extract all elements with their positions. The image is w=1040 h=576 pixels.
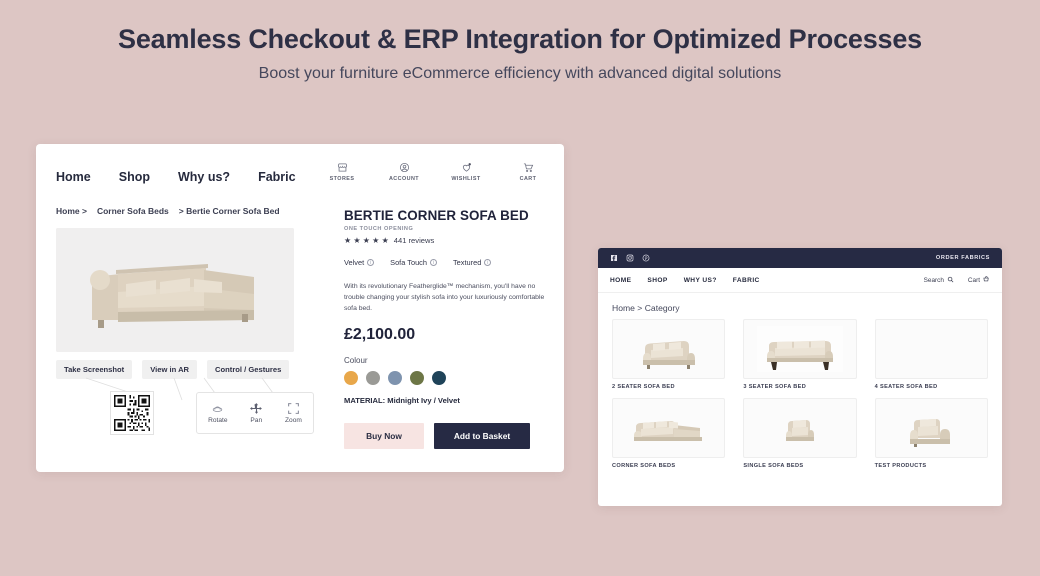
zoom-icon xyxy=(285,402,302,415)
pinterest-icon[interactable] xyxy=(642,249,650,267)
pdp-main-nav: Home Shop Why us? Fabric xyxy=(56,170,296,184)
feature-sofa-touch[interactable]: Sofa Touch i xyxy=(390,258,437,267)
category-tile-corner-sofa[interactable]: CORNER SOFA BEDS xyxy=(612,398,725,469)
search-button[interactable]: Search xyxy=(924,276,954,285)
ar-qr-code[interactable] xyxy=(110,391,154,435)
three-seater-sofa-image xyxy=(743,319,856,379)
category-tile-label: 4 SEATER SOFA BED xyxy=(875,384,988,390)
search-icon xyxy=(947,276,954,285)
category-tile-label: CORNER SOFA BEDS xyxy=(612,463,725,469)
breadcrumb-home[interactable]: Home > xyxy=(56,206,87,216)
star-rating-icon: ★ ★ ★ ★ ★ xyxy=(344,237,389,245)
rotate-icon xyxy=(208,402,227,415)
category-tile-2-seater[interactable]: 2 SEATER SOFA BED xyxy=(612,319,725,390)
category-tile-label: TEST PRODUCTS xyxy=(875,463,988,469)
category-page-card: ORDER FABRICS HOME SHOP WHY US? FABRIC S… xyxy=(598,248,1002,506)
cart-label: Cart xyxy=(968,277,980,284)
rotate-control[interactable]: Rotate xyxy=(208,402,227,424)
armchair-image xyxy=(743,398,856,458)
pan-label: Pan xyxy=(250,417,263,424)
swatch-blue-grey[interactable] xyxy=(388,371,402,385)
pdp-nav-fabric[interactable]: Fabric xyxy=(258,170,296,184)
category-tile-label: 2 SEATER SOFA BED xyxy=(612,384,725,390)
order-fabrics-link[interactable]: ORDER FABRICS xyxy=(936,255,990,261)
feature-sofa-touch-label: Sofa Touch xyxy=(390,258,427,267)
product-cta-row: Buy Now Add to Basket xyxy=(344,423,550,449)
category-nav-actions: Search Cart xyxy=(924,276,990,285)
product-price: £2,100.00 xyxy=(344,326,550,344)
cat-nav-fabric[interactable]: FABRIC xyxy=(733,277,760,284)
two-seater-sofa-image xyxy=(612,319,725,379)
category-nav-items: HOME SHOP WHY US? FABRIC xyxy=(610,277,760,284)
swatch-grey[interactable] xyxy=(366,371,380,385)
facebook-icon[interactable] xyxy=(610,249,618,267)
product-info-panel: BERTIE CORNER SOFA BED ONE TOUCH OPENING… xyxy=(344,208,550,449)
category-tile-single-sofa[interactable]: SINGLE SOFA BEDS xyxy=(743,398,856,469)
add-to-basket-button[interactable]: Add to Basket xyxy=(434,423,530,449)
category-tile-3-seater[interactable]: 3 SEATER SOFA BED xyxy=(743,319,856,390)
product-hero-image[interactable] xyxy=(56,228,294,352)
product-title: BERTIE CORNER SOFA BED xyxy=(344,208,550,223)
pdp-nav-home[interactable]: Home xyxy=(56,170,91,184)
search-label: Search xyxy=(924,277,944,284)
category-tile-label: SINGLE SOFA BEDS xyxy=(743,463,856,469)
breadcrumb-product: > Bertie Corner Sofa Bed xyxy=(179,206,280,216)
cart-label: CART xyxy=(508,176,548,182)
page-subheadline: Boost your furniture eCommerce efficienc… xyxy=(0,65,1040,83)
category-topbar: ORDER FABRICS xyxy=(598,248,1002,268)
cart-icon xyxy=(983,276,990,285)
zoom-label: Zoom xyxy=(285,417,302,424)
pdp-utility-icons: STORES ACCOUNT WISHLIST xyxy=(322,162,548,182)
product-description: With its revolutionary Featherglide™ mec… xyxy=(344,281,550,315)
social-links xyxy=(610,249,650,267)
pan-icon xyxy=(250,402,263,415)
stores-button[interactable]: STORES xyxy=(322,162,362,182)
rotate-label: Rotate xyxy=(208,417,227,424)
colour-label: Colour xyxy=(344,356,550,365)
category-tile-test-products[interactable]: TEST PRODUCTS xyxy=(875,398,988,469)
info-icon[interactable]: i xyxy=(367,259,374,266)
zoom-control[interactable]: Zoom xyxy=(285,402,302,424)
armchair-wide-image xyxy=(875,398,988,458)
product-subtitle: ONE TOUCH OPENING xyxy=(344,226,550,232)
account-icon xyxy=(384,162,424,173)
account-label: ACCOUNT xyxy=(384,176,424,182)
cat-nav-why-us[interactable]: WHY US? xyxy=(684,277,717,284)
empty-placeholder-image xyxy=(875,319,988,379)
feature-velvet[interactable]: Velvet i xyxy=(344,258,374,267)
category-nav: HOME SHOP WHY US? FABRIC Search Cart xyxy=(598,268,1002,293)
pan-control[interactable]: Pan xyxy=(250,402,263,424)
feature-velvet-label: Velvet xyxy=(344,258,364,267)
feature-textured-label: Textured xyxy=(453,258,481,267)
category-tile-label: 3 SEATER SOFA BED xyxy=(743,384,856,390)
breadcrumb-category[interactable]: Corner Sofa Beds xyxy=(97,206,169,216)
category-tile-grid: 2 SEATER SOFA BED xyxy=(598,317,1002,469)
page-headline: Seamless Checkout & ERP Integration for … xyxy=(0,24,1040,55)
cat-nav-shop[interactable]: SHOP xyxy=(647,277,667,284)
info-icon[interactable]: i xyxy=(484,259,491,266)
account-button[interactable]: ACCOUNT xyxy=(384,162,424,182)
store-icon xyxy=(322,162,362,173)
category-breadcrumb: Home > Category xyxy=(598,293,1002,317)
swatch-olive[interactable] xyxy=(410,371,424,385)
swatch-amber[interactable] xyxy=(344,371,358,385)
buy-now-button[interactable]: Buy Now xyxy=(344,423,424,449)
instagram-icon[interactable] xyxy=(626,249,634,267)
stores-label: STORES xyxy=(322,176,362,182)
review-count[interactable]: 441 reviews xyxy=(394,236,435,245)
corner-sofa-image xyxy=(612,398,725,458)
gesture-controls-panel: Rotate Pan Zoom xyxy=(196,392,314,434)
wishlist-button[interactable]: WISHLIST xyxy=(446,162,486,182)
pdp-nav-shop[interactable]: Shop xyxy=(119,170,150,184)
product-rating: ★ ★ ★ ★ ★ 441 reviews xyxy=(344,236,550,245)
cart-button[interactable]: Cart xyxy=(968,276,990,285)
feature-textured[interactable]: Textured i xyxy=(453,258,491,267)
cart-button[interactable]: CART xyxy=(508,162,548,182)
wishlist-heart-icon xyxy=(446,162,486,173)
pdp-breadcrumb: Home > Corner Sofa Beds > Bertie Corner … xyxy=(56,206,280,216)
pdp-nav-why-us[interactable]: Why us? xyxy=(178,170,230,184)
cart-icon xyxy=(508,162,548,173)
info-icon[interactable]: i xyxy=(430,259,437,266)
category-tile-4-seater[interactable]: 4 SEATER SOFA BED xyxy=(875,319,988,390)
product-features: Velvet i Sofa Touch i Textured i xyxy=(344,258,550,267)
cat-nav-home[interactable]: HOME xyxy=(610,277,631,284)
swatch-midnight-navy[interactable] xyxy=(432,371,446,385)
page-root: Seamless Checkout & ERP Integration for … xyxy=(0,0,1040,576)
colour-swatches xyxy=(344,371,550,385)
wishlist-label: WISHLIST xyxy=(446,176,486,182)
material-text: MATERIAL: Midnight Ivy / Velvet xyxy=(344,396,550,405)
